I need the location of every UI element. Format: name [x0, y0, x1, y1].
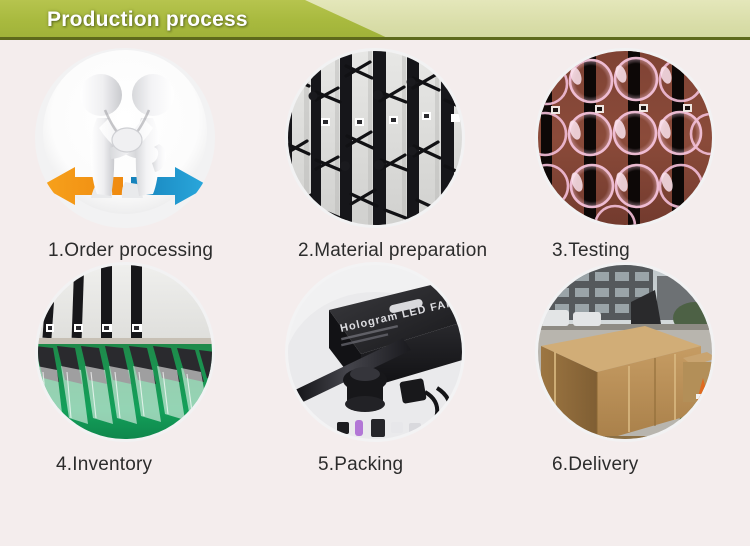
process-step-6: 6.Delivery	[500, 262, 750, 476]
process-step-1: 1.Order processing	[0, 48, 250, 262]
process-step-caption: 5.Packing	[250, 454, 500, 476]
process-step-caption: 2.Material preparation	[250, 240, 500, 262]
hologram-led-fan-box-photo: Hologram LED FAN	[285, 262, 465, 442]
page-title: Production process	[47, 0, 248, 40]
spinning-led-rings-photo	[535, 48, 715, 228]
process-step-caption: 4.Inventory	[0, 454, 250, 476]
process-step-2: 2.Material preparation	[250, 48, 500, 262]
shipping-crates-photo	[535, 262, 715, 442]
packed-units-green-bench-photo	[35, 262, 215, 442]
process-step-5: Hologram LED FAN	[250, 262, 500, 476]
process-step-3: 3.Testing	[500, 48, 750, 262]
process-step-4: 4.Inventory	[0, 262, 250, 476]
process-steps-row: 4.Inventory	[0, 262, 750, 476]
process-step-caption: 1.Order processing	[0, 240, 250, 262]
process-step-caption: 6.Delivery	[500, 454, 750, 476]
process-steps-grid: 1.Order processing	[0, 40, 750, 476]
production-process-page: Production process	[0, 0, 750, 546]
process-step-caption: 3.Testing	[500, 240, 750, 262]
handshake-figures-photo	[35, 48, 215, 228]
fan-blade-racks-photo	[285, 48, 465, 228]
page-banner: Production process	[0, 0, 750, 40]
process-steps-row: 1.Order processing	[0, 48, 750, 262]
